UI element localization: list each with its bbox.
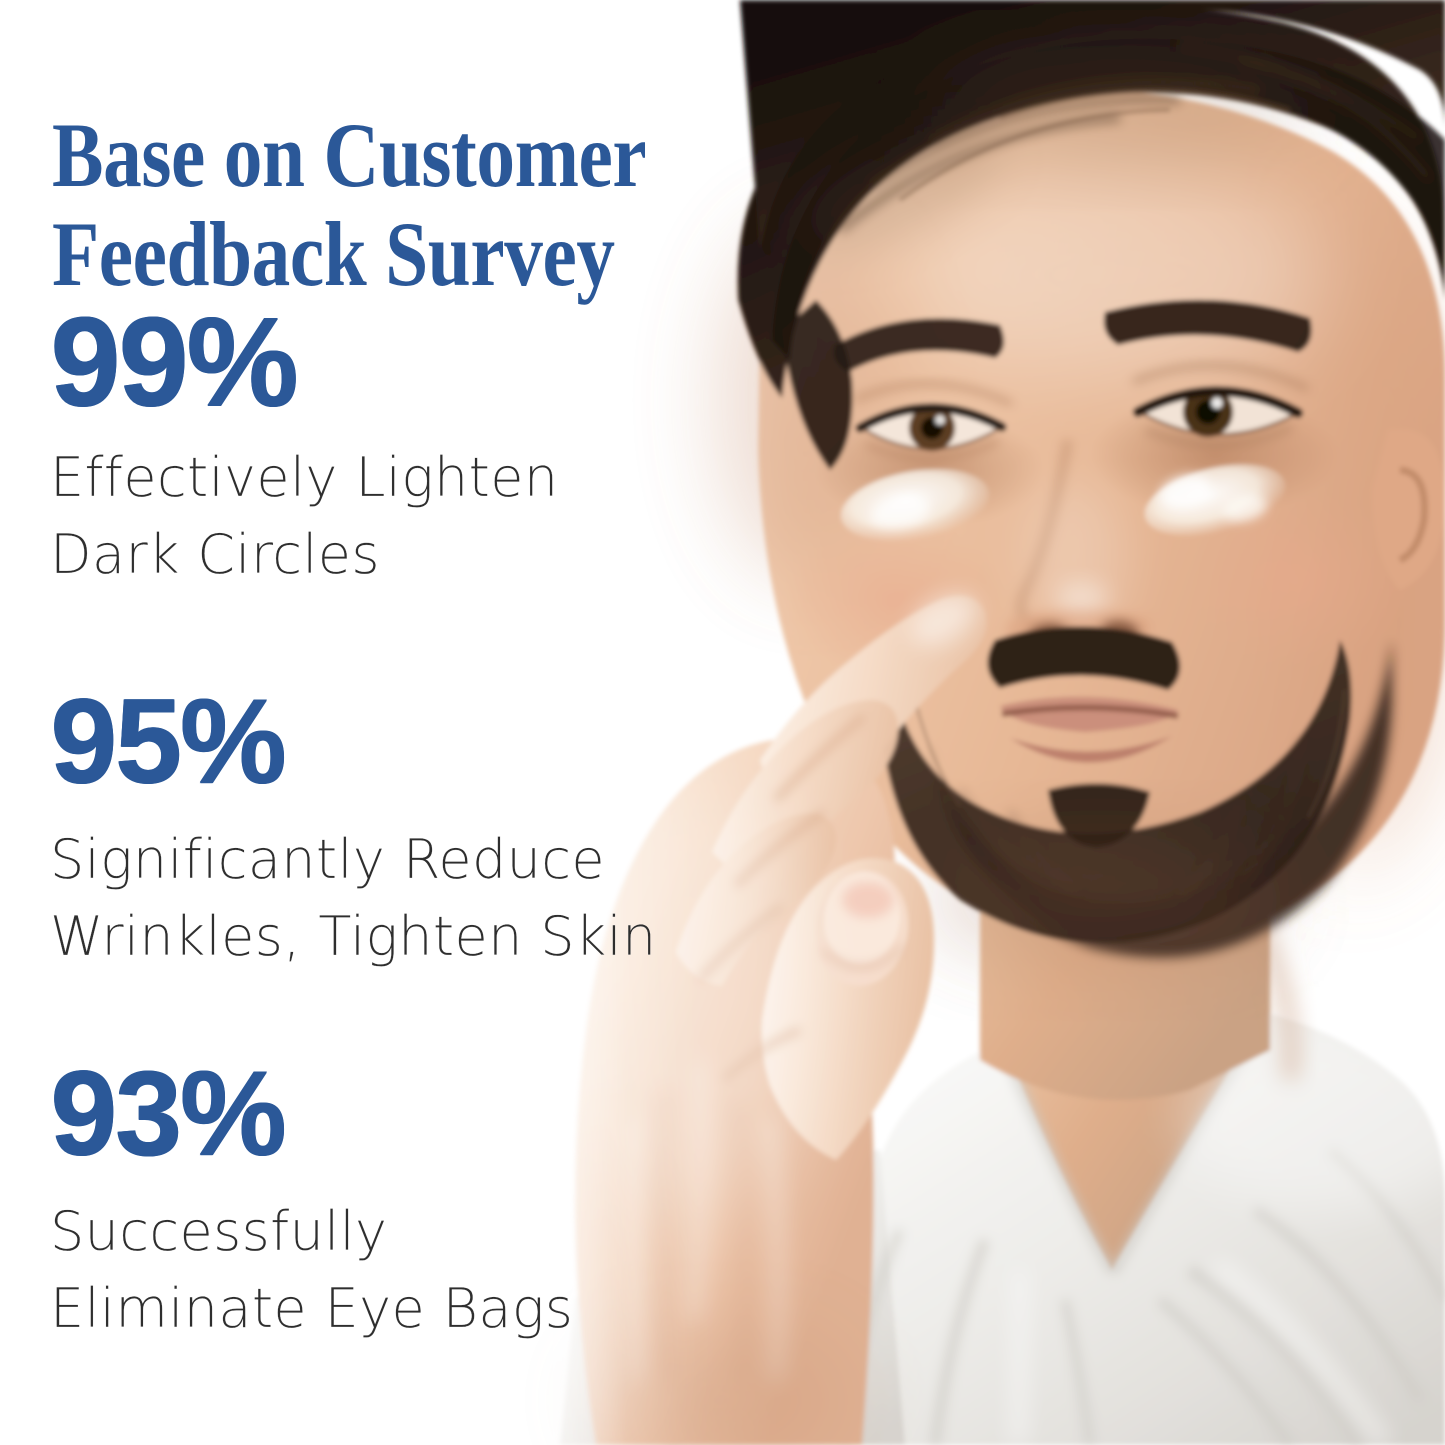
stat-description-95: Significantly Reduce Wrinkles, Tighten S… — [50, 822, 657, 975]
page-title: Base on Customer Feedback Survey — [52, 106, 808, 305]
stat-block-93: 93% Successfully Eliminate Eye Bags — [50, 1058, 573, 1348]
stat-description-93: Successfully Eliminate Eye Bags — [50, 1194, 573, 1347]
stat-percent-93: 93% — [50, 1058, 573, 1168]
stat-block-99: 99% Effectively Lighten Dark Circles — [50, 304, 558, 593]
stat-percent-99: 99% — [50, 304, 558, 420]
stat-description-99: Effectively Lighten Dark Circles — [50, 440, 558, 593]
stat-percent-95: 95% — [50, 686, 657, 796]
promo-poster: Base on Customer Feedback Survey 99% Eff… — [0, 0, 1445, 1445]
stat-block-95: 95% Significantly Reduce Wrinkles, Tight… — [50, 686, 657, 976]
